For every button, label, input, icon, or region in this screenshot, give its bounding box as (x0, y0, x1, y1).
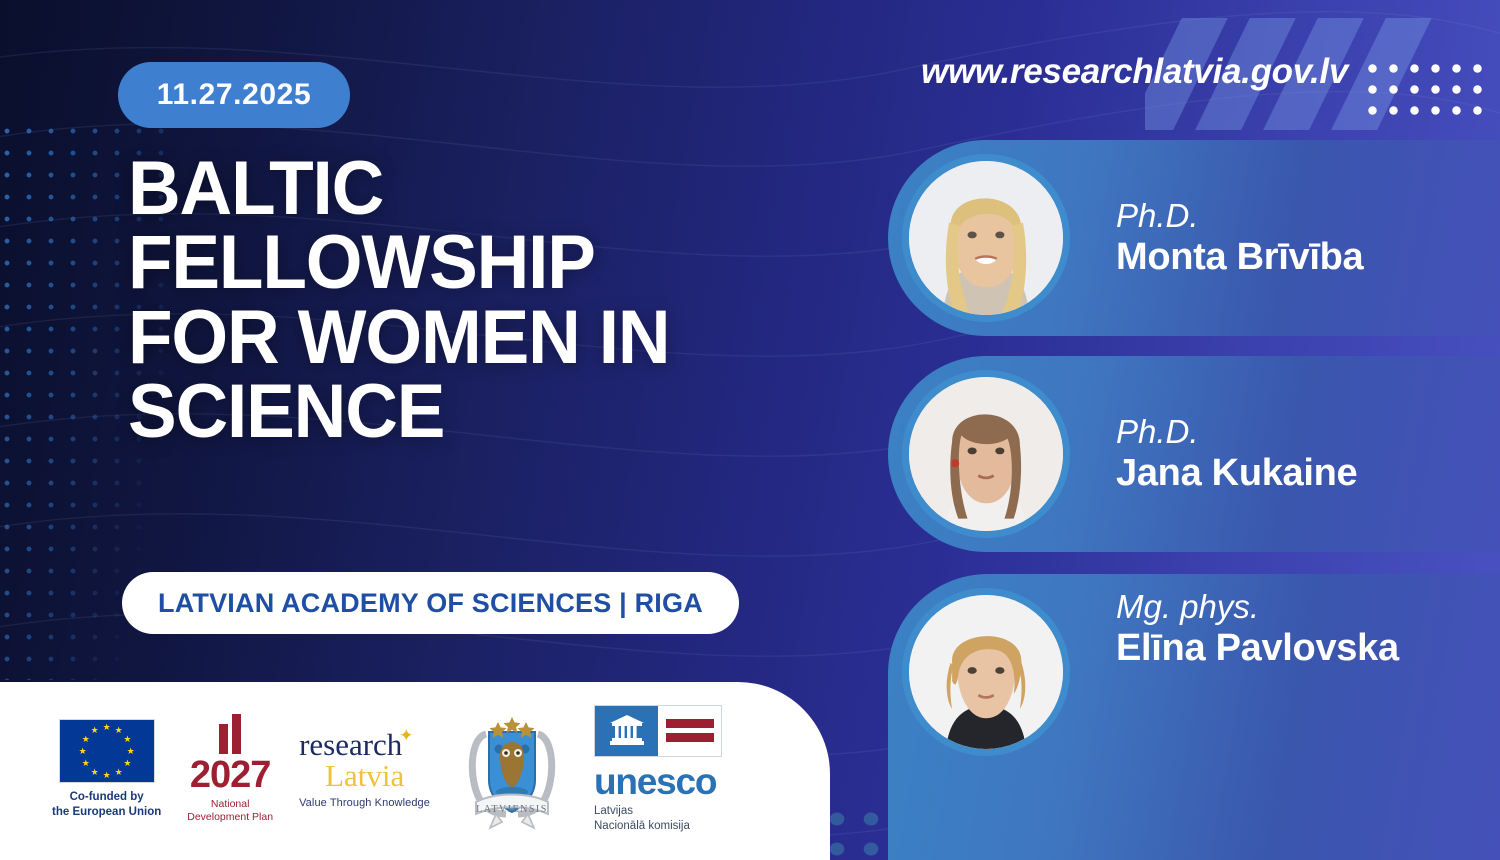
speaker-info: Ph.D. Jana Kukaine (1116, 413, 1357, 496)
speaker-name: Monta Brīvība (1116, 235, 1363, 280)
ndp-bars-icon (219, 714, 241, 754)
research-latvia-line1: research (299, 727, 402, 762)
speaker-info: Ph.D. Monta Brīvība (1116, 197, 1363, 280)
left-column: 11.27.2025 BALTIC FELLOWSHIP FOR WOMEN I… (0, 0, 860, 860)
portrait-monta-briviba (909, 161, 1063, 315)
speaker-row: Ph.D. Jana Kukaine (888, 356, 1500, 552)
ndp-caption: National Development Plan (187, 798, 273, 824)
latvian-flag-icon (658, 706, 721, 756)
unesco-emblem-icon (594, 705, 722, 757)
dot-grid-decoration (1362, 58, 1482, 120)
event-title: BALTIC FELLOWSHIP FOR WOMEN IN SCIENCE (128, 152, 800, 450)
eu-flag-icon (59, 719, 155, 783)
star-icon: ✦ (399, 727, 413, 744)
unesco-wordmark: unesco (594, 763, 716, 800)
eu-logo-caption: Co-funded by the European Union (52, 790, 161, 819)
ndp-year: 2027 (190, 756, 271, 794)
speaker-name: Elīna Pavlovska (1116, 626, 1399, 671)
logo-unesco: unesco Latvijas Nacionālā komisija (594, 705, 722, 834)
speaker-degree: Ph.D. (1116, 413, 1357, 451)
academy-crest-icon: LATVIENSIS (456, 708, 568, 830)
website-url[interactable]: www.researchlatvia.gov.lv (921, 52, 1348, 92)
event-venue-badge: LATVIAN ACADEMY OF SCIENCES | RIGA (122, 572, 739, 634)
logo-research-latvia: research✦ Latvia Value Through Knowledge (299, 729, 430, 809)
speaker-row: Mg. phys. Elīna Pavlovska (888, 574, 1500, 860)
speaker-degree: Ph.D. (1116, 197, 1363, 235)
avatar (902, 588, 1070, 756)
speaker-degree: Mg. phys. (1116, 588, 1399, 626)
unesco-caption: Latvijas Nacionālā komisija (594, 804, 690, 834)
sponsor-logo-bar: Co-funded by the European Union 2027 Nat… (0, 682, 830, 860)
speaker-row: Ph.D. Monta Brīvība (888, 140, 1500, 336)
title-line-2: FELLOWSHIP (128, 226, 800, 300)
speaker-info: Mg. phys. Elīna Pavlovska (1116, 588, 1399, 671)
avatar (902, 154, 1070, 322)
avatar (902, 370, 1070, 538)
title-line-3: FOR WOMEN IN (128, 301, 800, 375)
portrait-jana-kukaine (909, 377, 1063, 531)
logo-national-development-plan: 2027 National Development Plan (187, 714, 273, 824)
research-latvia-tagline: Value Through Knowledge (299, 797, 430, 809)
title-line-4: SCIENCE (128, 375, 800, 449)
title-line-1: BALTIC (128, 152, 800, 226)
logo-european-union: Co-funded by the European Union (52, 719, 161, 819)
portrait-elina-pavlovska (909, 595, 1063, 749)
research-latvia-line2: Latvia (325, 760, 404, 793)
crest-ribbon-text: LATVIENSIS (476, 804, 548, 815)
logo-latvian-academy-of-sciences: LATVIENSIS (456, 708, 568, 830)
event-poster: 11.27.2025 BALTIC FELLOWSHIP FOR WOMEN I… (0, 0, 1500, 860)
event-date-badge: 11.27.2025 (118, 62, 350, 128)
speaker-name: Jana Kukaine (1116, 451, 1357, 496)
unesco-temple-icon (607, 714, 647, 748)
